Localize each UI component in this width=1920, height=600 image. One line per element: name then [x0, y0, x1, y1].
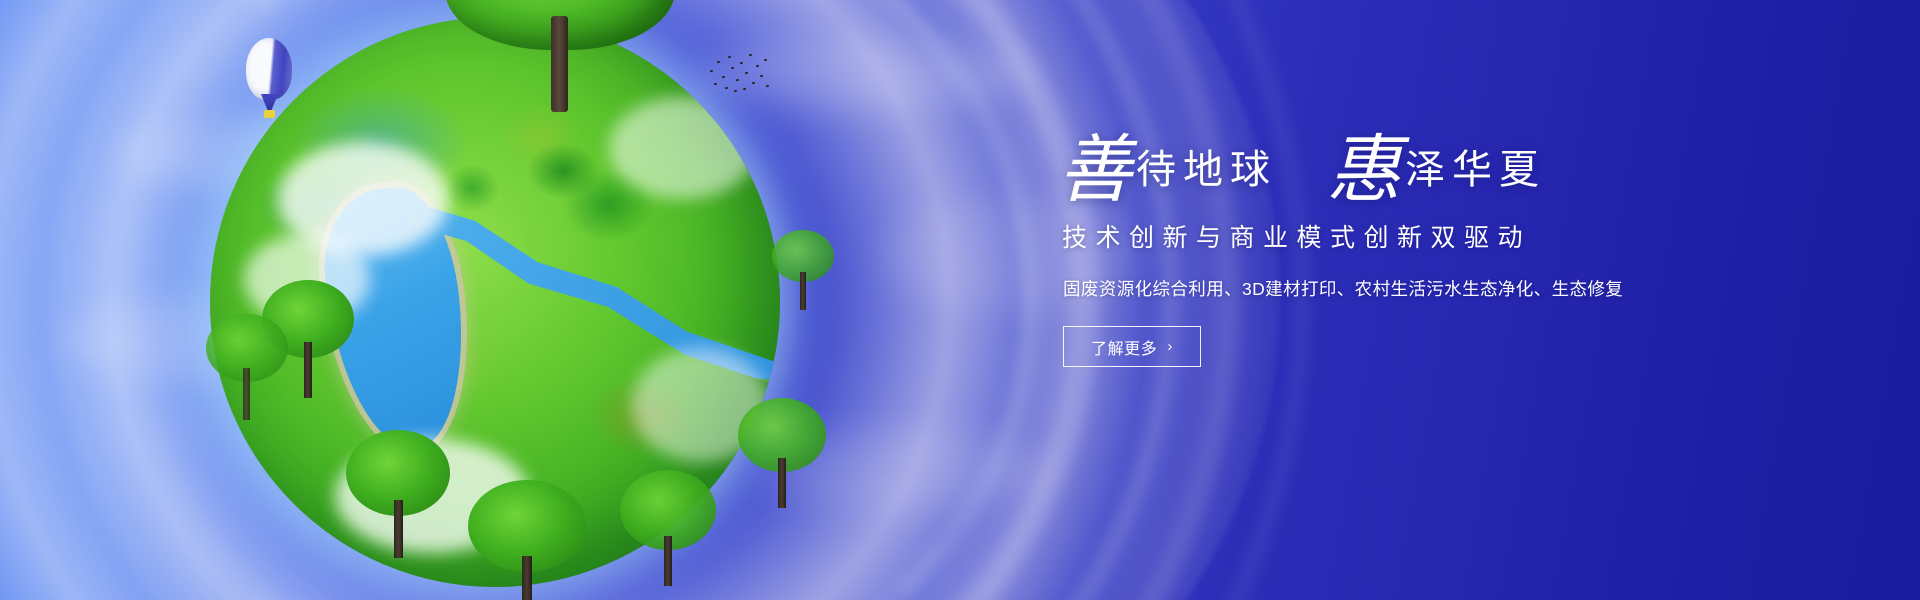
- hero-subtitle: 技术创新与商业模式创新双驱动: [1062, 218, 1698, 254]
- hero-content: 善待地球惠泽华夏 技术创新与商业模式创新双驱动 固废资源化综合利用、3D建材打印…: [1058, 128, 1698, 367]
- learn-more-button[interactable]: 了解更多 ›: [1063, 326, 1201, 367]
- rim-tree: [738, 398, 826, 510]
- balloon-skirt: [261, 94, 278, 110]
- balloon-envelope: [246, 38, 292, 100]
- tree-trunk: [551, 16, 568, 112]
- rim-tree: [468, 480, 586, 600]
- page-title: 善待地球惠泽华夏: [1058, 128, 1698, 202]
- headline-text-1: 待地球: [1136, 147, 1277, 192]
- hot-air-balloon-icon: [246, 38, 292, 124]
- headline-char-1: 善: [1058, 130, 1132, 212]
- balloon-basket: [264, 110, 275, 118]
- rim-tree: [346, 430, 450, 560]
- rim-tree: [772, 230, 834, 314]
- tree-on-globe: [445, 0, 675, 110]
- bird-flock-icon: [708, 52, 770, 94]
- learn-more-label: 了解更多: [1091, 335, 1157, 359]
- hero-description: 固废资源化综合利用、3D建材打印、农村生活污水生态净化、生态修复: [1063, 276, 1698, 301]
- hero-banner: 善待地球惠泽华夏 技术创新与商业模式创新双驱动 固废资源化综合利用、3D建材打印…: [0, 0, 1920, 600]
- headline-char-2: 惠: [1327, 130, 1401, 212]
- rim-tree: [620, 470, 716, 588]
- headline-text-2: 泽华夏: [1405, 147, 1546, 192]
- rim-tree: [206, 314, 288, 424]
- chevron-right-icon: ›: [1167, 338, 1173, 355]
